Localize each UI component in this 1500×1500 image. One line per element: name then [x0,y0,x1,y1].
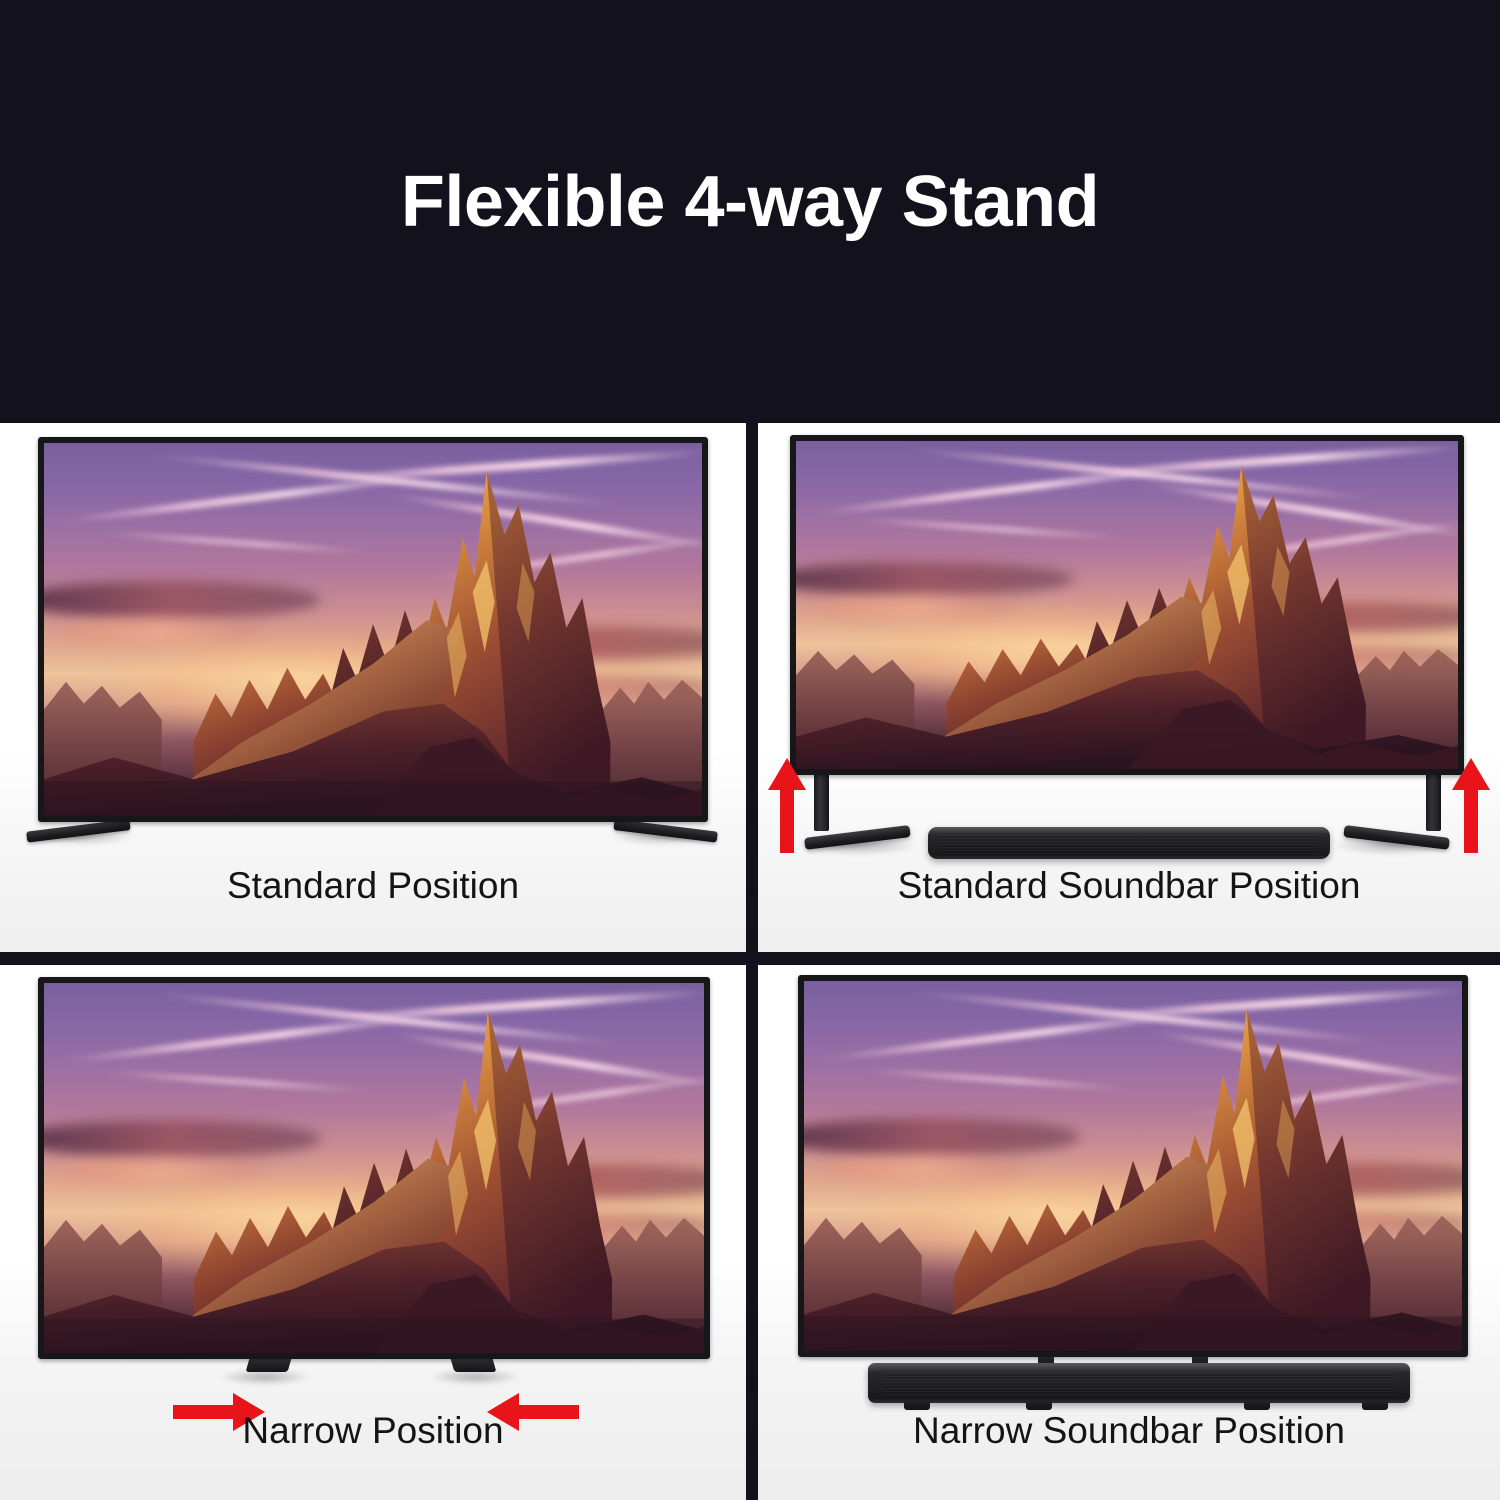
horizontal-divider [0,952,1500,965]
stand-leg-post-left [814,769,829,831]
mountain-peaks [44,983,704,1353]
caption-standard-position: Standard Position [0,865,746,907]
header-band: Flexible 4-way Stand [0,0,1500,423]
mountain-peaks [796,441,1458,769]
soundbar[interactable] [868,1363,1410,1403]
mountain-peaks [44,443,702,816]
tv-screen [44,983,704,1353]
soundbar-grille [940,835,1318,855]
tv-bezel [38,977,710,1359]
stand-leg-post-right [1426,769,1441,831]
arrow-up-icon-left [768,758,806,853]
mountain-peaks [804,981,1462,1351]
panel-narrow-position[interactable]: Narrow Position [0,965,746,1500]
panel-narrow-soundbar-position[interactable]: Narrow Soundbar Position [758,965,1500,1500]
soundbar-foot-2 [1026,1401,1052,1410]
caption-standard-soundbar-position: Standard Soundbar Position [758,865,1500,907]
soundbar-foot-1 [904,1401,930,1410]
tv-bezel [798,975,1468,1357]
tv-standard[interactable] [38,437,708,822]
tv-narrow-soundbar[interactable] [798,975,1468,1357]
tv-bezel [38,437,708,822]
soundbar-grille [884,1373,1393,1398]
product-feature-graphic: Flexible 4-way Stand [0,0,1500,1500]
soundbar-foot-4 [1362,1401,1388,1410]
tv-screen [796,441,1458,769]
panel-grid: Standard Position [0,423,1500,1500]
soundbar-highlight [868,1363,1410,1373]
panel-standard-soundbar-position[interactable]: Standard Soundbar Position [758,423,1500,952]
soundbar[interactable] [928,827,1330,859]
tv-screen [44,443,702,816]
soundbar-foot-3 [1244,1401,1270,1410]
page-title: Flexible 4-way Stand [0,166,1500,238]
caption-narrow-soundbar-position: Narrow Soundbar Position [758,1410,1500,1452]
arrow-up-icon-right [1452,758,1490,853]
tv-screen [804,981,1462,1351]
tv-bezel [790,435,1464,775]
panel-standard-position[interactable]: Standard Position [0,423,746,952]
caption-narrow-position: Narrow Position [0,1410,746,1452]
tv-standard-soundbar[interactable] [790,435,1464,775]
tv-narrow[interactable] [38,977,710,1359]
